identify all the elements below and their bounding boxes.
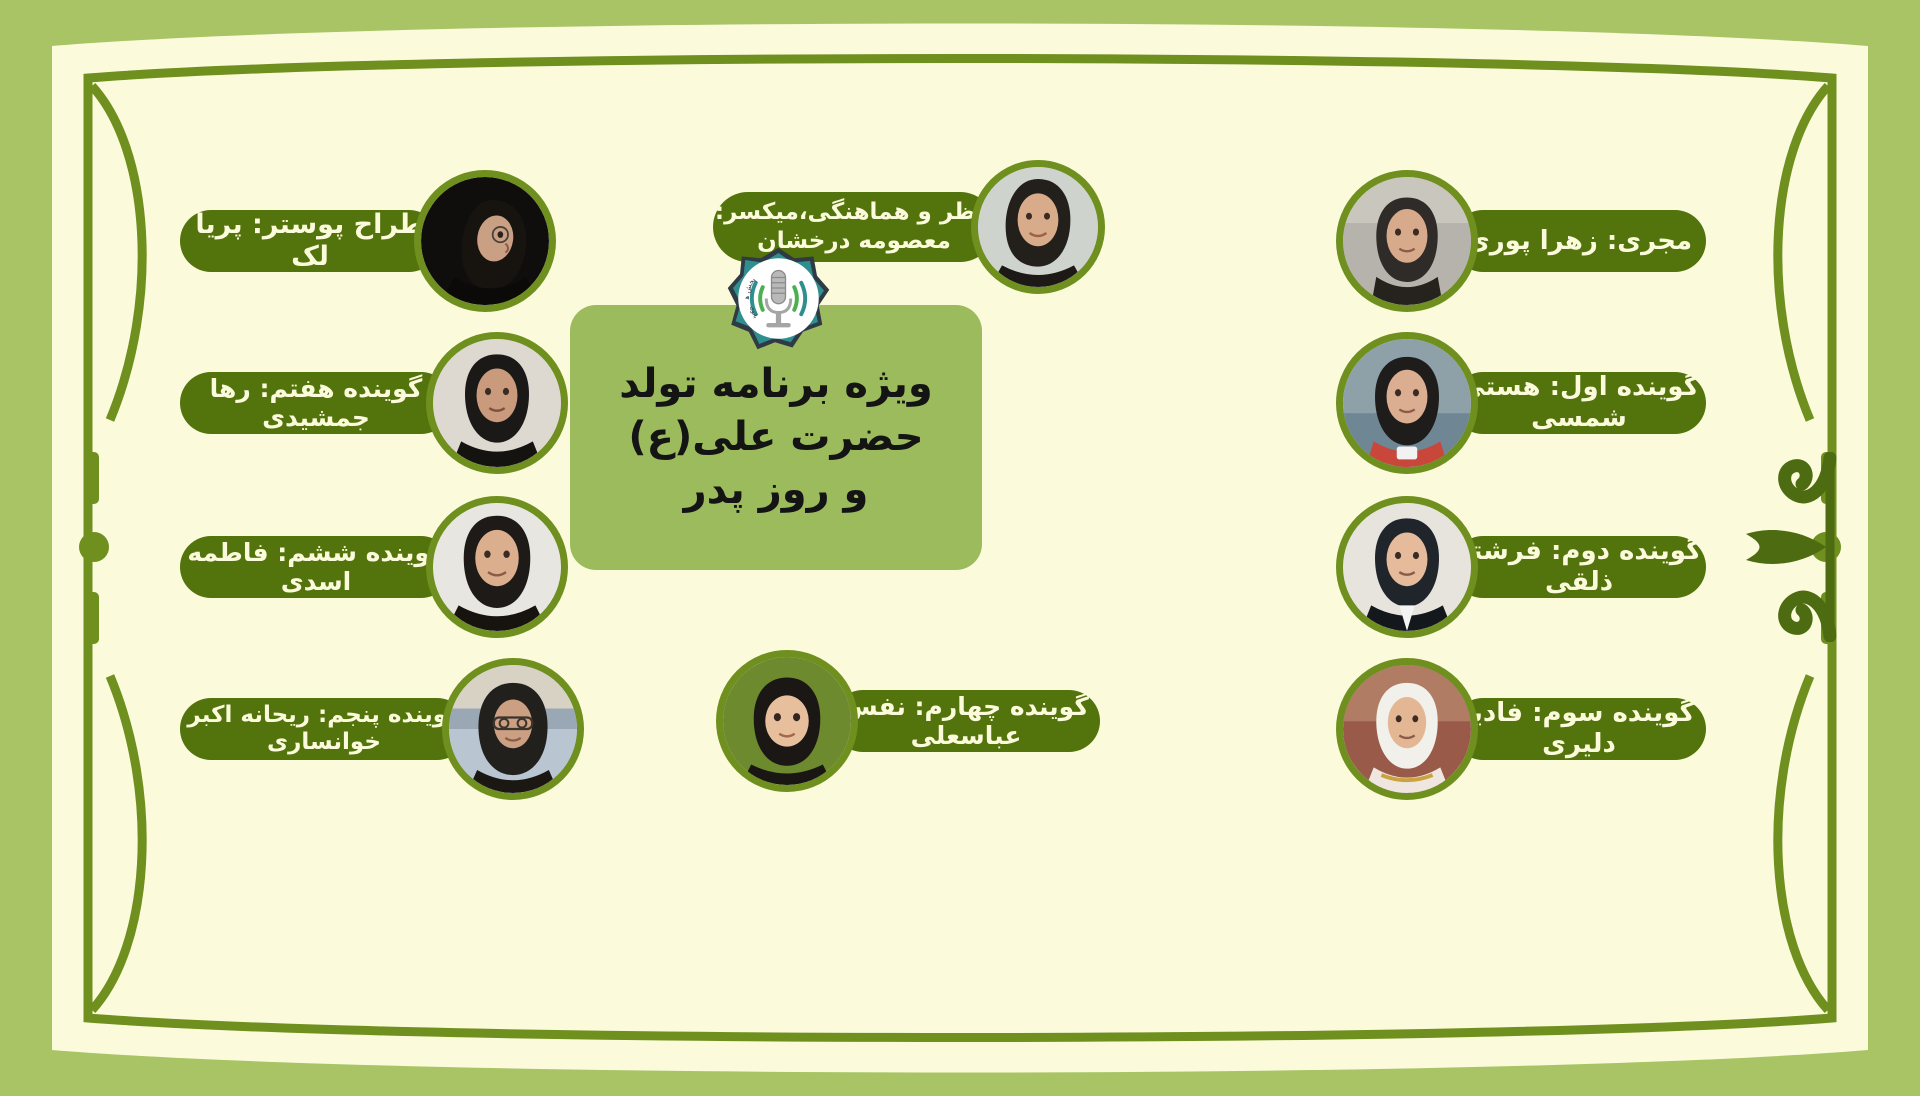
right-side-ornament-icon [1742,452,1920,642]
credit-label-text: طراح پوستر: پریا لک [180,209,440,273]
radio-microphone-logo-icon: پخش همگانی بانوی با الفبا ایران [726,246,831,351]
credit-label-speaker-5: گوینده پنجم: ریحانه اکبر خوانساری [180,698,468,760]
avatar-speaker-2 [1336,496,1478,638]
credit-row-host: مجری: زهرا پوری [1336,170,1706,312]
credit-label-speaker-6: گوینده ششم: فاطمه اسدی [180,536,452,598]
credit-row-speaker-6: گوینده ششم: فاطمه اسدی [180,496,568,638]
credit-label-text: گوینده ششم: فاطمه اسدی [180,538,452,597]
credit-label-text: گوینده پنجم: ریحانه اکبر خوانساری [180,702,468,756]
credit-label-text: گوینده چهارم: نفس عباسعلی [832,692,1100,751]
avatar-speaker-4 [716,650,858,792]
credit-row-speaker-3: گوینده سوم: فادیا دلیری [1336,658,1706,800]
credit-label-host: مجری: زهرا پوری [1452,210,1706,272]
avatar-speaker-6 [426,496,568,638]
credit-row-speaker-4: گوینده چهارم: نفس عباسعلی [716,650,1100,792]
credit-row-speaker-1: گوینده اول: هستی شمسی [1336,332,1706,474]
program-title-line-3: و روز پدر [684,466,869,515]
avatar-speaker-7 [426,332,568,474]
credit-label-speaker-4: گوینده چهارم: نفس عباسعلی [832,690,1100,752]
poster-canvas: مجری: زهرا پوری گوینده اول: هستی شمسی [0,0,1920,1096]
avatar-poster-designer [414,170,556,312]
avatar-speaker-5 [442,658,584,800]
credit-row-speaker-2: گوینده دوم: فرشته ذلقی [1336,496,1706,638]
avatar-speaker-1 [1336,332,1478,474]
credit-label-text: گوینده هفتم: رها جمشیدی [180,374,452,433]
credit-row-speaker-7: گوینده هفتم: رها جمشیدی [180,332,568,474]
credit-label-text: مجری: زهرا پوری [1466,226,1692,257]
credit-row-speaker-5: گوینده پنجم: ریحانه اکبر خوانساری [180,658,584,800]
credit-label-text: گوینده دوم: فرشته ذلقی [1452,536,1706,597]
credit-row-poster-designer: طراح پوستر: پریا لک [180,170,556,312]
avatar-supervisor-mixer [971,160,1105,294]
credit-label-speaker-1: گوینده اول: هستی شمسی [1452,372,1706,434]
program-title-line-1: ویژه برنامه تولد [619,360,932,409]
credit-label-speaker-2: گوینده دوم: فرشته ذلقی [1452,536,1706,598]
credit-label-poster-designer: طراح پوستر: پریا لک [180,210,440,272]
credit-label-text: گوینده اول: هستی شمسی [1452,372,1706,433]
credit-label-speaker-7: گوینده هفتم: رها جمشیدی [180,372,452,434]
program-title-line-2: حضرت علی(ع) [628,413,923,462]
credit-label-text-line1: ناظر و هماهنگی،میکسر: [715,199,993,226]
avatar-speaker-3 [1336,658,1478,800]
credit-label-speaker-3: گوینده سوم: فادیا دلیری [1452,698,1706,760]
credit-label-text: گوینده سوم: فادیا دلیری [1452,698,1706,759]
avatar-host [1336,170,1478,312]
